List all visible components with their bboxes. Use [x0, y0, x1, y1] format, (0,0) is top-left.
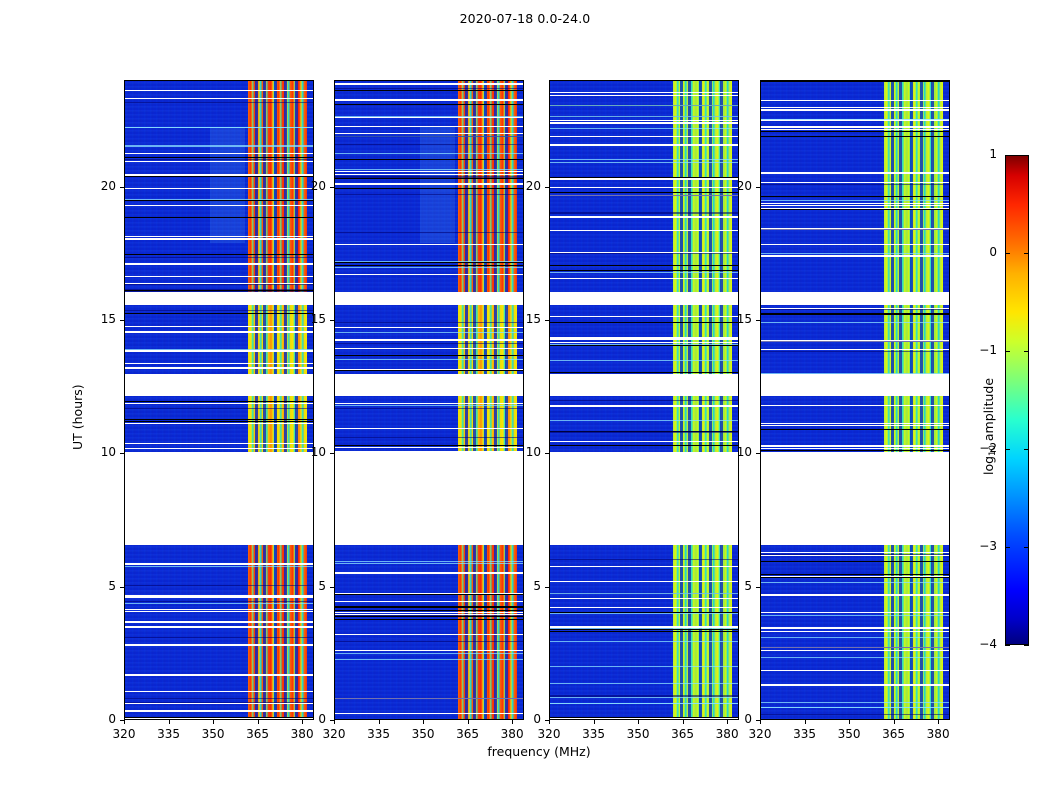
saturated-row — [550, 270, 738, 271]
y-tick-label: 20 — [78, 179, 116, 193]
saturated-row — [550, 265, 738, 266]
bright-row — [761, 637, 949, 638]
flagged-row — [550, 405, 738, 407]
waterfall-band — [335, 545, 523, 720]
flagged-row — [125, 331, 313, 333]
flagged-row — [125, 98, 313, 99]
flagged-row — [550, 441, 738, 442]
flagged-row — [550, 216, 738, 217]
dark-row — [335, 437, 523, 438]
flagged-row — [125, 596, 313, 598]
colorbar-tick-mark — [1024, 449, 1029, 450]
y-tick-mark — [330, 453, 334, 454]
bright-row — [550, 697, 738, 698]
rfi-notch — [274, 81, 277, 292]
flagged-row — [761, 109, 949, 111]
bright-row — [335, 563, 523, 564]
dark-row — [125, 257, 313, 258]
saturated-row — [125, 217, 313, 218]
flagged-row — [761, 650, 949, 651]
flagged-row — [335, 428, 523, 429]
flagged-row — [335, 451, 523, 452]
bright-row — [761, 119, 949, 120]
rfi-notch — [284, 81, 287, 292]
x-tick-label: 335 — [783, 727, 827, 741]
y-tick-label: 0 — [714, 712, 752, 726]
x-tick-mark — [805, 720, 806, 724]
dark-row — [335, 343, 523, 344]
x-tick-label: 350 — [401, 727, 445, 741]
saturated-row — [550, 345, 738, 346]
x-tick-label: 365 — [446, 727, 490, 741]
flagged-row — [335, 634, 523, 635]
flagged-row — [761, 448, 949, 449]
flagged-row — [550, 566, 738, 567]
bright-row — [335, 659, 523, 660]
flagged-row — [125, 626, 313, 628]
flagged-row — [761, 127, 949, 128]
dark-row — [761, 229, 949, 230]
rfi-notch — [899, 545, 902, 720]
bright-row — [550, 344, 738, 345]
bright-row — [335, 153, 523, 154]
waterfall-band — [550, 545, 738, 720]
dark-row — [335, 698, 523, 699]
flagged-row — [125, 363, 313, 364]
flagged-row — [125, 90, 313, 91]
saturated-row — [335, 606, 523, 607]
flagged-row — [761, 255, 949, 257]
y-tick-label: 0 — [78, 712, 116, 726]
saturated-row — [125, 176, 313, 177]
flagged-row — [125, 563, 313, 565]
dark-row — [335, 194, 523, 195]
flagged-row — [550, 122, 738, 124]
saturated-row — [125, 717, 313, 718]
y-tick-label: 10 — [288, 445, 326, 459]
flagged-row — [335, 133, 523, 134]
rfi-notch — [920, 545, 923, 720]
flagged-row — [335, 83, 523, 85]
y-tick-label: 5 — [78, 579, 116, 593]
saturated-row — [761, 131, 949, 132]
y-tick-label: 15 — [503, 312, 541, 326]
flagged-row — [761, 594, 949, 596]
bright-row — [550, 272, 738, 273]
y-tick-mark — [756, 187, 760, 188]
flagged-row — [550, 92, 738, 93]
colorbar-tick-mark — [1005, 155, 1010, 156]
rfi-notch — [720, 545, 723, 720]
dark-row — [550, 253, 738, 254]
flagged-row — [335, 601, 523, 602]
rfi-notch — [255, 81, 258, 292]
bright-row — [761, 200, 949, 201]
flagged-row — [550, 144, 738, 146]
flagged-row — [335, 348, 523, 349]
y-tick-label: 10 — [714, 445, 752, 459]
bright-row — [550, 683, 738, 684]
flagged-row — [550, 607, 738, 608]
flagged-row — [761, 684, 949, 686]
x-tick-mark — [638, 720, 639, 724]
flagged-row — [125, 403, 313, 404]
rfi-notch — [274, 545, 277, 720]
bright-row — [125, 566, 313, 567]
flagged-row — [335, 650, 523, 651]
dark-row — [125, 102, 313, 103]
saturated-row — [125, 401, 313, 402]
flagged-row — [761, 555, 949, 556]
saturated-row — [125, 157, 313, 158]
dark-row — [125, 284, 313, 285]
saturated-row — [761, 561, 949, 562]
panel-yx[interactable]: YX, V2*V5=EA12*EA04 — [760, 80, 950, 720]
bright-row — [761, 253, 949, 254]
flagged-row — [125, 611, 313, 612]
rfi-notch — [920, 81, 923, 292]
saturated-row — [125, 254, 313, 255]
flagged-row — [761, 405, 949, 406]
rfi-notch — [931, 81, 934, 292]
y-tick-mark — [545, 453, 549, 454]
x-tick-label: 320 — [312, 727, 356, 741]
colorbar-tick-label: 0 — [959, 245, 997, 259]
dark-row — [125, 637, 313, 638]
saturated-row — [550, 631, 738, 632]
x-axis-label: frequency (MHz) — [374, 744, 704, 759]
dark-row — [550, 195, 738, 196]
colorbar-label-tail: amplitude — [981, 378, 996, 445]
x-tick-label: 335 — [357, 727, 401, 741]
saturated-row — [335, 90, 523, 91]
flagged-row — [761, 129, 949, 130]
flagged-row — [761, 172, 949, 174]
rfi-notch — [931, 545, 934, 720]
rfi-notch — [688, 545, 691, 720]
bright-row — [335, 332, 523, 333]
rfi-notch — [699, 545, 702, 720]
colorbar-tick-mark — [1005, 253, 1010, 254]
flagged-row — [761, 612, 949, 613]
flagged-row — [761, 308, 949, 309]
saturated-row — [550, 192, 738, 193]
saturated-row — [761, 429, 949, 430]
saturated-row — [550, 322, 738, 323]
bright-row — [335, 267, 523, 268]
flagged-row — [125, 188, 313, 189]
rfi-notch — [255, 545, 258, 720]
flagged-row — [125, 691, 313, 692]
waterfall-image-xy — [550, 81, 738, 719]
dark-row — [125, 291, 313, 292]
flagged-row — [335, 99, 523, 101]
saturated-row — [761, 196, 949, 197]
flagged-row — [125, 236, 313, 237]
rfi-notch — [680, 545, 683, 720]
colorbar[interactable] — [1005, 155, 1029, 645]
rfi-notch — [284, 545, 287, 720]
flagged-row — [550, 252, 738, 253]
flagged-row — [550, 339, 738, 340]
flagged-row — [335, 339, 523, 341]
bright-row — [550, 360, 738, 361]
saturated-row — [125, 419, 313, 420]
flagged-row — [761, 100, 949, 101]
x-tick-mark — [549, 720, 550, 724]
y-tick-label: 0 — [503, 712, 541, 726]
waterfall-band — [550, 305, 738, 374]
flagged-row — [761, 631, 949, 632]
rfi-notch — [295, 545, 298, 720]
waterfall-image-yy — [335, 81, 523, 719]
bright-row — [335, 561, 523, 562]
flagged-row — [761, 205, 949, 206]
y-tick-mark — [756, 453, 760, 454]
saturated-row — [761, 136, 949, 137]
figure-suptitle: 2020-07-18 0.0-24.0 — [0, 11, 1050, 26]
y-axis-label: UT (hours) — [70, 384, 85, 450]
flagged-row — [335, 183, 523, 185]
flagged-row — [550, 136, 738, 137]
x-tick-mark — [124, 720, 125, 724]
flagged-row — [335, 171, 523, 172]
dark-row — [125, 159, 313, 160]
x-tick-label: 320 — [738, 727, 782, 741]
bright-row — [550, 703, 738, 704]
saturated-row — [335, 355, 523, 356]
y-tick-label: 15 — [288, 312, 326, 326]
waterfall-image-yx — [761, 81, 949, 719]
flagged-row — [761, 670, 949, 671]
flagged-row — [335, 713, 523, 714]
rfi-notch — [263, 81, 266, 292]
flagged-row — [125, 711, 313, 712]
waterfall-band — [335, 305, 523, 374]
flagged-row — [761, 244, 949, 245]
dark-row — [761, 309, 949, 310]
saturated-row — [761, 313, 949, 314]
x-tick-label: 365 — [872, 727, 916, 741]
saturated-row — [550, 177, 738, 178]
y-tick-mark — [756, 587, 760, 588]
bright-row — [335, 405, 523, 406]
rfi-notch — [899, 81, 902, 292]
flagged-row — [125, 153, 313, 154]
flagged-row — [761, 425, 949, 426]
bright-row — [761, 657, 949, 658]
colorbar-tick-label: −4 — [959, 637, 997, 651]
flagged-row — [550, 718, 738, 719]
colorbar-tick-label: −1 — [959, 343, 997, 357]
colorbar-tick-mark — [1024, 547, 1029, 548]
figure-canvas: 2020-07-18 0.0-24.0 XX, V2*V5=EA12*EA04 … — [0, 0, 1050, 800]
x-tick-mark — [169, 720, 170, 724]
dark-row — [125, 310, 313, 311]
panel-yy[interactable]: YY, V2*V5=EA12*EA04 — [334, 80, 524, 720]
y-tick-mark — [120, 187, 124, 188]
y-tick-mark — [330, 587, 334, 588]
y-tick-label: 20 — [503, 179, 541, 193]
flagged-row — [761, 349, 949, 350]
flagged-row — [125, 326, 313, 327]
y-tick-mark — [545, 187, 549, 188]
y-tick-label: 5 — [503, 579, 541, 593]
bright-row — [550, 162, 738, 163]
saturated-row — [550, 372, 738, 373]
rfi-notch — [910, 545, 913, 720]
x-tick-mark — [423, 720, 424, 724]
saturated-row — [335, 188, 523, 189]
waterfall-band — [335, 396, 523, 452]
y-tick-label: 5 — [288, 579, 326, 593]
y-tick-label: 5 — [714, 579, 752, 593]
colorbar-tick-mark — [1024, 253, 1029, 254]
flagged-row — [761, 203, 949, 204]
colorbar-label-main: log — [981, 456, 996, 475]
flagged-row — [125, 238, 313, 240]
waterfall-band — [761, 81, 949, 292]
flagged-row — [125, 718, 313, 719]
rfi-notch — [891, 81, 894, 292]
dark-row — [550, 213, 738, 214]
waterfall-band — [125, 305, 313, 374]
flagged-row — [335, 719, 523, 720]
bright-row — [761, 615, 949, 616]
dark-row — [125, 585, 313, 586]
flagged-row — [550, 581, 738, 582]
flagged-row — [550, 230, 738, 231]
colorbar-tick-mark — [1024, 645, 1029, 646]
bright-row — [125, 146, 313, 147]
flagged-row — [125, 276, 313, 277]
waterfall-band — [550, 81, 738, 292]
bright-row — [761, 707, 949, 708]
saturated-row — [761, 209, 949, 210]
dark-row — [761, 647, 949, 648]
rfi-notch — [263, 545, 266, 720]
dark-row — [761, 714, 949, 715]
flagged-row — [761, 445, 949, 447]
colorbar-tick-mark — [1005, 645, 1010, 646]
y-tick-label: 15 — [714, 312, 752, 326]
bright-row — [335, 359, 523, 360]
flagged-row — [125, 350, 313, 352]
saturated-row — [335, 159, 523, 160]
saturated-row — [550, 629, 738, 630]
waterfall-band — [125, 396, 313, 452]
waterfall-band — [125, 545, 313, 720]
flagged-row — [125, 205, 313, 206]
saturated-row — [335, 370, 523, 371]
dark-row — [761, 351, 949, 352]
colorbar-tick-mark — [1024, 351, 1029, 352]
dark-row — [335, 176, 523, 177]
flagged-row — [335, 117, 523, 118]
saturated-row — [335, 619, 523, 620]
waterfall-band — [335, 81, 523, 292]
panel-xy[interactable]: XY, V2*V5=EA12*EA04 — [549, 80, 739, 720]
flagged-row — [125, 621, 313, 623]
flagged-row — [335, 612, 523, 613]
bright-row — [761, 373, 949, 374]
bright-row — [550, 128, 738, 129]
bright-row — [335, 653, 523, 654]
flagged-row — [550, 217, 738, 218]
flagged-row — [335, 327, 523, 328]
y-tick-label: 10 — [503, 445, 541, 459]
dark-row — [550, 432, 738, 433]
flagged-row — [125, 423, 313, 424]
flagged-row — [761, 182, 949, 183]
saturated-row — [335, 265, 523, 266]
flagged-row — [761, 552, 949, 553]
colorbar-label: log10 amplitude — [981, 378, 998, 475]
rfi-notch — [891, 545, 894, 720]
flagged-row — [335, 174, 523, 175]
bright-row — [550, 613, 738, 614]
y-tick-mark — [330, 187, 334, 188]
flagged-row — [550, 337, 738, 338]
flagged-row — [550, 178, 738, 180]
flagged-row — [125, 609, 313, 610]
saturated-row — [335, 178, 523, 179]
saturated-row — [125, 200, 313, 201]
dark-row — [550, 559, 738, 560]
colorbar-tick-label: −3 — [959, 539, 997, 553]
dark-row — [550, 400, 738, 401]
dark-row — [761, 341, 949, 342]
x-tick-mark — [849, 720, 850, 724]
flagged-row — [550, 626, 738, 628]
waterfall-band — [761, 305, 949, 374]
dark-row — [125, 698, 313, 699]
saturated-row — [335, 594, 523, 595]
colorbar-tick-mark — [1005, 547, 1010, 548]
dark-row — [761, 184, 949, 185]
flagged-row — [550, 120, 738, 121]
bright-row — [125, 199, 313, 200]
dark-row — [125, 601, 313, 602]
x-tick-label: 350 — [191, 727, 235, 741]
x-tick-label: 320 — [102, 727, 146, 741]
flagged-row — [335, 274, 523, 275]
flagged-row — [550, 316, 738, 317]
flagged-row — [335, 447, 523, 448]
flagged-row — [125, 161, 313, 162]
flagged-row — [335, 126, 523, 127]
flagged-row — [550, 187, 738, 188]
x-tick-label: 335 — [572, 727, 616, 741]
x-tick-mark — [379, 720, 380, 724]
flagged-row — [550, 598, 738, 599]
x-tick-label: 350 — [827, 727, 871, 741]
colorbar-label-sub: 10 — [988, 445, 998, 456]
saturated-row — [335, 610, 523, 611]
flagged-row — [125, 703, 313, 704]
y-tick-label: 15 — [78, 312, 116, 326]
flagged-row — [761, 627, 949, 629]
panel-xx[interactable]: XX, V2*V5=EA12*EA04 — [124, 80, 314, 720]
flagged-row — [550, 278, 738, 279]
y-tick-label: 0 — [288, 712, 326, 726]
y-tick-label: 20 — [714, 179, 752, 193]
x-tick-label: 380 — [916, 727, 960, 741]
y-tick-label: 20 — [288, 179, 326, 193]
bright-row — [550, 105, 738, 106]
x-tick-mark — [594, 720, 595, 724]
x-tick-label: 350 — [616, 727, 660, 741]
